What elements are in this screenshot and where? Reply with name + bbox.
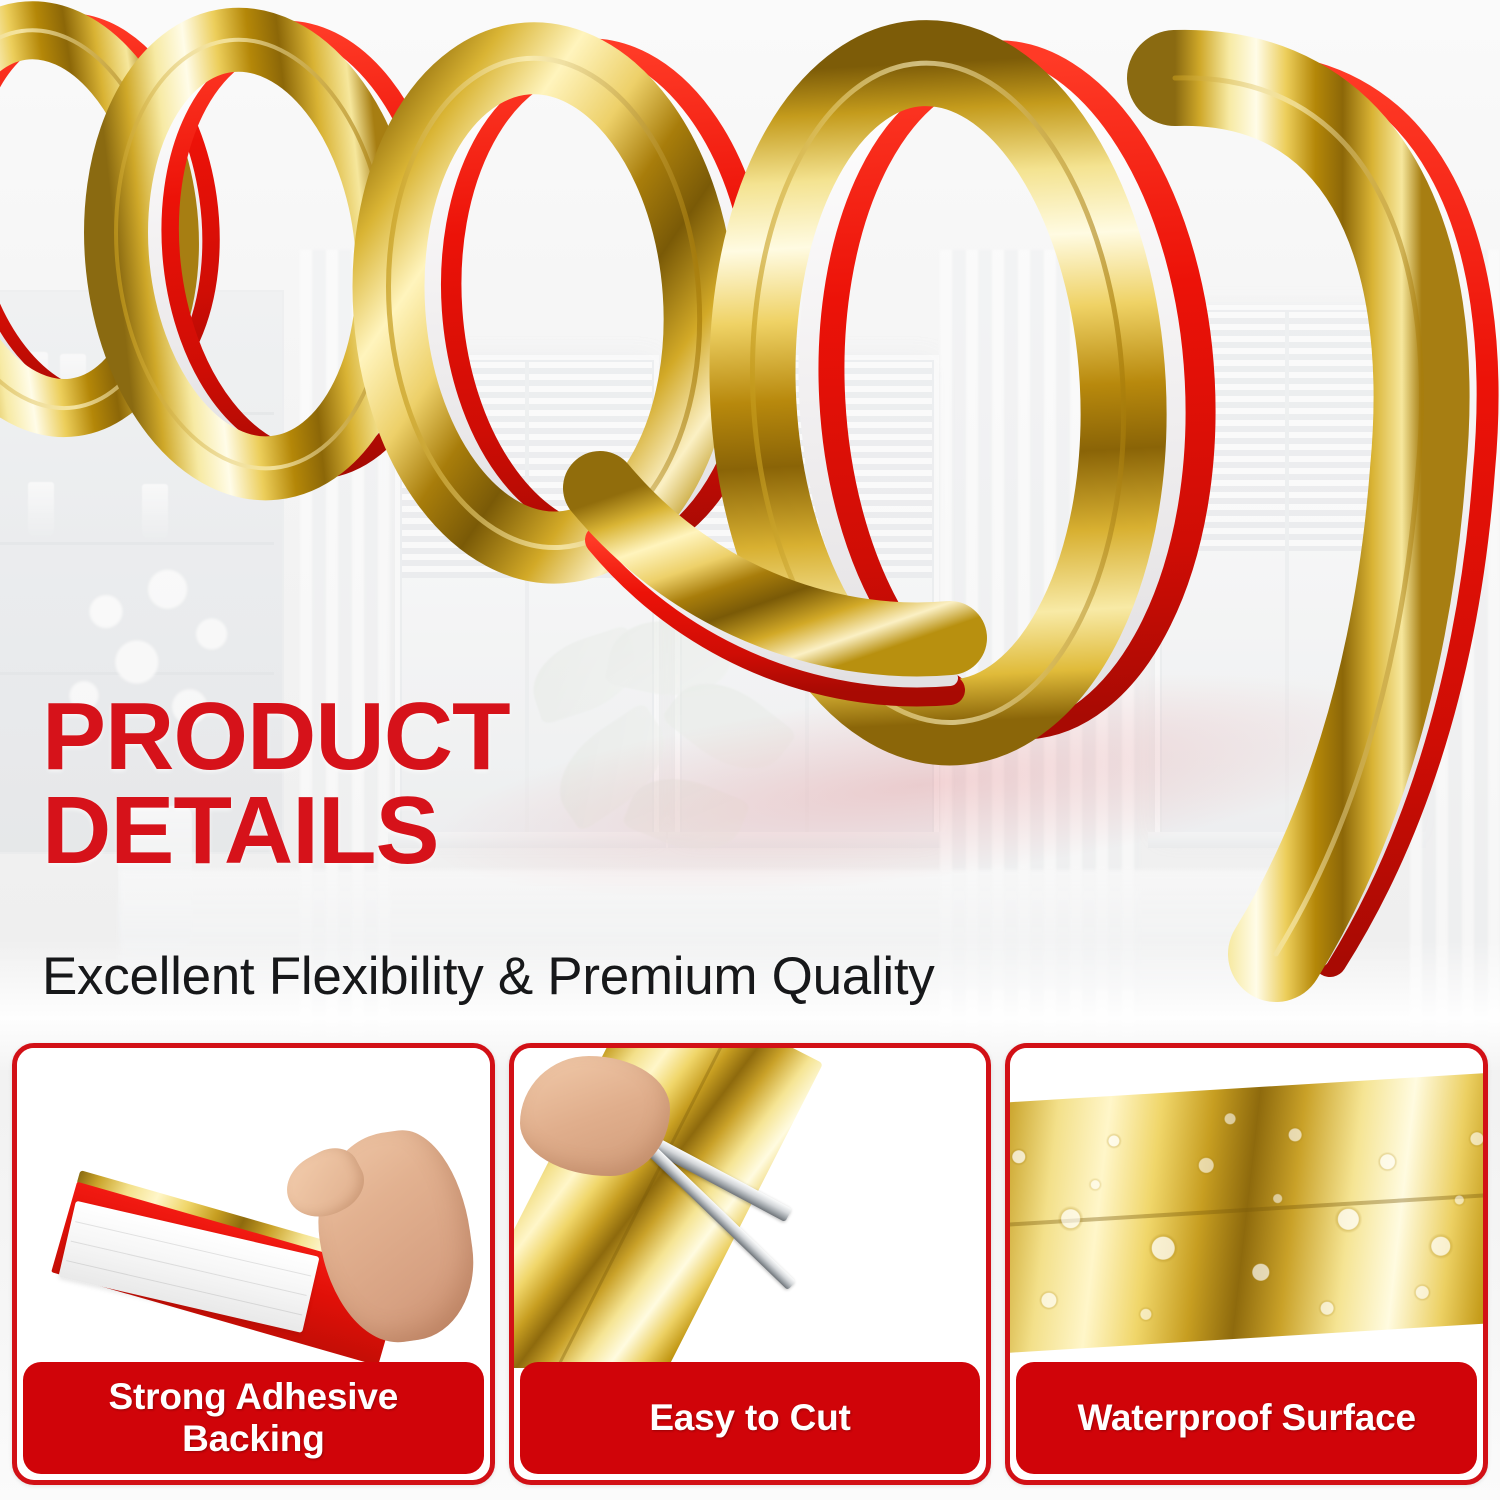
feature-panel-row: Strong Adhesive Backing Easy to Cut [12,1043,1488,1485]
feature-caption-easy-to-cut: Easy to Cut [520,1362,981,1474]
wet-gold-surface-illustration [1010,1072,1483,1354]
feature-image-waterproof-surface [1010,1048,1483,1368]
feature-image-easy-to-cut [514,1048,987,1368]
hand-illustration [520,1056,670,1176]
feature-panel-strong-adhesive-backing[interactable]: Strong Adhesive Backing [12,1043,495,1485]
feature-panel-waterproof-surface[interactable]: Waterproof Surface [1005,1043,1488,1485]
product-detail-infographic: PRODUCT DETAILS Excellent Flexibility & … [0,0,1500,1500]
feature-image-strong-adhesive-backing [17,1048,490,1368]
page-title: PRODUCT DETAILS [42,690,942,878]
thumb-illustration [276,1139,374,1230]
feature-caption-strong-adhesive-backing: Strong Adhesive Backing [23,1362,484,1474]
water-droplets [1010,1072,1483,1354]
feature-panel-easy-to-cut[interactable]: Easy to Cut [509,1043,992,1485]
page-subtitle: Excellent Flexibility & Premium Quality [42,948,1242,1006]
feature-caption-waterproof-surface: Waterproof Surface [1016,1362,1477,1474]
coil-tail-right [1175,70,1482,960]
